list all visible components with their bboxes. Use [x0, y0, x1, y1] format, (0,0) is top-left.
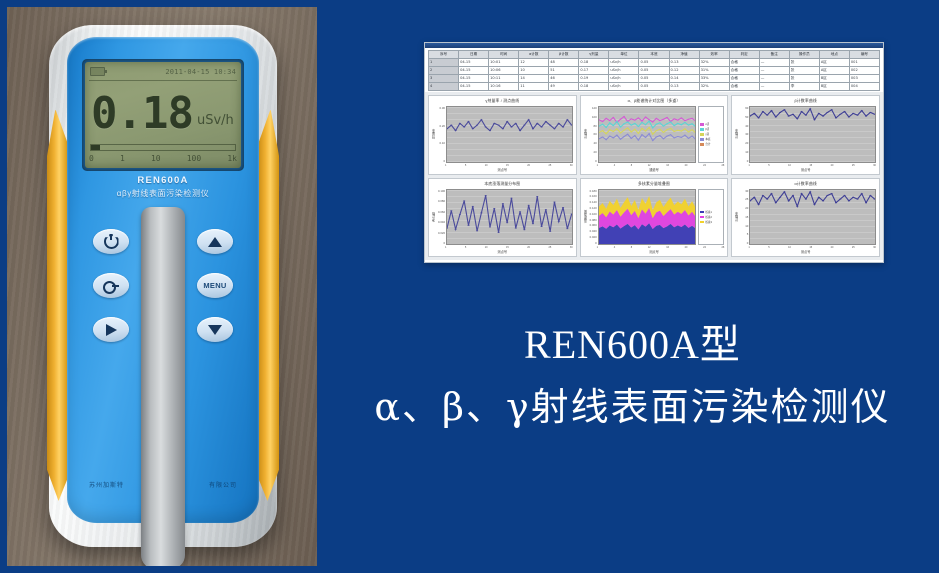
chart-card[interactable]: β计数率曲线计数率6050403020100151015202530测点号	[731, 95, 880, 175]
table-cell: 002	[849, 67, 879, 75]
search-button[interactable]	[93, 273, 129, 298]
chart-x-axis-label: 测点号	[581, 249, 728, 256]
chart-data-point	[626, 134, 628, 135]
chart-title: α计数率曲线	[732, 179, 879, 187]
table-cell: 51	[549, 67, 579, 75]
table-cell: 001	[849, 59, 879, 67]
chart-data-point	[684, 120, 686, 121]
chart-data-point	[809, 191, 811, 192]
chart-data-point	[637, 133, 639, 134]
chart-data-point	[687, 119, 689, 120]
chart-data-point	[644, 116, 646, 117]
table-row[interactable]: 204-1510:0610510.17uSv/h0.050.1231%合格—张A…	[429, 67, 880, 75]
chart-data-point	[662, 138, 664, 139]
chart-data-point	[865, 116, 867, 117]
chart-data-point	[601, 130, 603, 131]
chart-legend-label: 合计	[705, 142, 710, 146]
chart-data-point	[532, 223, 534, 224]
chart-data-point	[655, 124, 657, 125]
chart-data-point	[659, 135, 661, 136]
table-cell: 0.14	[669, 75, 699, 83]
chart-data-point	[648, 119, 650, 120]
chart-data-point	[616, 121, 618, 122]
chart-data-point	[566, 119, 568, 120]
chart-data-point	[784, 109, 786, 110]
chart-legend-swatch	[700, 123, 704, 126]
table-cell: 0.18	[579, 83, 609, 91]
chart-legend: 核素1核素2核素3	[698, 189, 724, 246]
chart-data-point	[687, 125, 689, 126]
chart-data-point	[605, 139, 607, 140]
chart-data-point	[476, 125, 478, 126]
chart-data-point	[623, 123, 625, 124]
chart-y-tick: 30	[739, 189, 748, 193]
chart-y-axis-label: 活度浓度	[583, 210, 588, 223]
table-column-header: 净值	[669, 51, 699, 59]
chart-legend-label: γ道	[705, 132, 709, 136]
chart-data-point	[454, 228, 456, 229]
chart-data-point	[805, 198, 807, 199]
table-cell: B区	[819, 83, 849, 91]
table-cell: 0.05	[639, 59, 669, 67]
chart-data-point	[771, 193, 773, 194]
chart-data-point	[634, 129, 636, 130]
chart-data-point	[485, 126, 487, 127]
chart-y-ticks: 6050403020100	[739, 106, 749, 163]
chart-data-point	[822, 116, 824, 117]
chart-y-tick: 0	[588, 241, 597, 245]
chart-title: α、β能谱统计对比图（多道）	[581, 96, 728, 104]
chart-data-point	[831, 109, 833, 110]
chart-line-series	[447, 195, 572, 232]
chart-data-point	[822, 200, 824, 201]
chart-data-point	[796, 205, 798, 206]
chart-y-axis-label: 计数率	[734, 212, 739, 222]
chart-data-point	[553, 201, 555, 202]
charts-grid: γ剂量率 / 测点曲线剂量率0.300.200.100151015202530测…	[425, 92, 883, 260]
table-cell: 32%	[699, 59, 729, 67]
chart-data-point	[467, 121, 469, 122]
chart-data-point	[553, 128, 555, 129]
chart-legend-item: α道	[700, 122, 722, 126]
chart-data-point	[788, 116, 790, 117]
chart-data-point	[463, 200, 465, 201]
table-cell: 张	[789, 59, 819, 67]
chart-data-point	[687, 138, 689, 139]
chart-line-series	[750, 109, 875, 120]
grip-left	[47, 109, 68, 501]
chart-y-tick: 40	[588, 141, 597, 145]
chart-data-point	[805, 115, 807, 116]
chart-data-point	[666, 123, 668, 124]
chart-data-point	[601, 124, 603, 125]
chart-y-axis-label: 计数率	[734, 129, 739, 139]
chart-plot-area	[749, 106, 876, 163]
chart-data-point	[605, 133, 607, 134]
company-left: 苏州加斯特	[89, 480, 124, 489]
table-cell: 04-15	[459, 83, 489, 91]
chart-data-point	[766, 115, 768, 116]
chart-data-point	[523, 125, 525, 126]
table-row[interactable]: 404-1510:1611490.18uSv/h0.050.1332%合格—李B…	[429, 83, 880, 91]
chart-plot-area	[446, 189, 573, 246]
lcd-scale-ticks: 0 1 10 100 1k	[89, 154, 237, 166]
chart-y-ticks: 302520151050	[739, 189, 749, 246]
chart-y-tick: 0	[739, 159, 748, 163]
chart-data-point	[540, 126, 542, 127]
chart-legend-swatch	[700, 221, 704, 224]
table-column-header: 判定	[729, 51, 759, 59]
lcd-bezel: 2011-04-15 10:34 0.18 uSv/h 0 1 10 100	[82, 59, 244, 171]
table-column-header: 时间	[489, 51, 519, 59]
chart-data-point	[666, 136, 668, 137]
power-icon	[104, 234, 119, 249]
table-cell: 0.05	[639, 67, 669, 75]
power-button[interactable]	[93, 229, 129, 254]
chart-data-point	[852, 196, 854, 197]
chart-data-point	[623, 130, 625, 131]
chart-data-point	[566, 228, 568, 229]
chart-y-tick: 0.140	[588, 200, 597, 204]
chart-y-tick: 60	[588, 132, 597, 136]
chart-y-tick: 10	[739, 150, 748, 154]
chart-data-point	[616, 128, 618, 129]
chart-y-tick: 40	[739, 124, 748, 128]
table-row[interactable]: 304-1510:1114460.19uSv/h0.050.1433%合格—张B…	[429, 75, 880, 83]
table-cell: 003	[849, 75, 879, 83]
table-cell: 0.17	[579, 67, 609, 75]
chart-title: β计数率曲线	[732, 96, 879, 104]
chart-y-tick: 0.060	[436, 210, 445, 214]
table-cell: 48	[549, 59, 579, 67]
chart-data-point	[691, 129, 693, 130]
table-cell: 10:16	[489, 83, 519, 91]
chart-y-tick: 20	[588, 150, 597, 154]
chart-data-point	[754, 113, 756, 114]
chart-data-point	[510, 126, 512, 127]
table-cell: 11	[519, 83, 549, 91]
triangle-right-icon	[106, 324, 117, 336]
table-row[interactable]: 104-1510:0112480.18uSv/h0.050.1332%合格—张A…	[429, 59, 880, 67]
table-cell: 合格	[729, 83, 759, 91]
data-table: 序号日期时间α计数β计数γ剂量单位本底净值效率判定备注操作员地点编号 104-1…	[428, 50, 880, 91]
chart-data-point	[779, 112, 781, 113]
chart-legend-swatch	[700, 211, 704, 214]
table-cell: 04-15	[459, 67, 489, 75]
chart-y-tick: 0.080	[588, 218, 597, 222]
chart-data-point	[809, 108, 811, 109]
chart-data-point	[637, 140, 639, 141]
table-cell: A区	[819, 67, 849, 75]
chart-y-tick: 50	[739, 115, 748, 119]
chart-y-tick: 25	[739, 197, 748, 201]
chart-card[interactable]: 本底涨落测量分布图净计数0.1000.0800.0600.0400.020015…	[428, 178, 577, 258]
chart-data-point	[680, 137, 682, 138]
menu-button[interactable]: MENU	[197, 273, 233, 298]
slide-root: 2011-04-15 10:34 0.18 uSv/h 0 1 10 100	[0, 0, 939, 573]
chart-data-point	[612, 137, 614, 138]
chart-data-point	[673, 137, 675, 138]
table-cell: B区	[819, 75, 849, 83]
chart-data-point	[609, 129, 611, 130]
chart-data-point	[796, 118, 798, 119]
chart-y-tick: 30	[739, 132, 748, 136]
chart-data-point	[459, 214, 461, 215]
table-cell: 14	[519, 75, 549, 83]
chart-title: 多核素分量堆叠图	[581, 179, 728, 187]
chart-data-point	[684, 135, 686, 136]
table-header-row: 序号日期时间α计数β计数γ剂量单位本底净值效率判定备注操作员地点编号	[429, 51, 880, 59]
chart-y-tick: 60	[739, 106, 748, 110]
chart-data-point	[626, 127, 628, 128]
chart-data-point	[771, 110, 773, 111]
chart-data-point	[691, 118, 693, 119]
table-cell: 合格	[729, 75, 759, 83]
chart-data-point	[532, 128, 534, 129]
chart-data-point	[545, 121, 547, 122]
chart-data-point	[839, 198, 841, 199]
device-model-desc: αβγ射线表面污染检测仪	[67, 188, 259, 199]
chart-data-point	[609, 122, 611, 123]
chart-data-point	[528, 119, 530, 120]
chart-y-tick: 0.10	[436, 141, 445, 145]
chart-data-point	[655, 118, 657, 119]
chart-card[interactable]: α计数率曲线计数率302520151050151015202530测点号	[731, 178, 880, 258]
chart-data-point	[673, 118, 675, 119]
table-column-header: 单位	[609, 51, 639, 59]
chart-data-point	[818, 196, 820, 197]
chart-data-point	[662, 119, 664, 120]
lcd-datetime: 2011-04-15 10:34	[165, 68, 236, 76]
chart-y-tick: 0.100	[588, 212, 597, 216]
table-cell: —	[759, 67, 789, 75]
chart-y-ticks: 0.1000.0800.0600.0400.0200	[436, 189, 446, 246]
chart-legend-label: 核素2	[705, 215, 712, 219]
up-button[interactable]	[197, 229, 233, 254]
table-cell: 张	[789, 75, 819, 83]
chart-y-tick: 5	[739, 232, 748, 236]
chart-data-point	[609, 120, 611, 121]
chart-data-point	[659, 122, 661, 123]
table-cell: 0.18	[579, 59, 609, 67]
table-cell: 4	[429, 83, 459, 91]
lcd-divider	[89, 80, 237, 81]
chart-data-point	[865, 202, 867, 203]
chart-data-point	[612, 117, 614, 118]
chart-data-point	[861, 110, 863, 111]
chart-data-point	[515, 227, 517, 228]
chart-data-point	[801, 111, 803, 112]
chart-data-point	[450, 125, 452, 126]
table-column-header: 本底	[639, 51, 669, 59]
chart-data-point	[519, 211, 521, 212]
chart-data-point	[669, 128, 671, 129]
chart-data-point	[814, 204, 816, 205]
play-button[interactable]	[93, 317, 129, 342]
table-column-header: β计数	[549, 51, 579, 59]
chart-plot-area	[598, 106, 697, 163]
chart-y-ticks: 120100806040200	[588, 106, 598, 163]
chart-data-point	[655, 136, 657, 137]
down-button[interactable]	[197, 317, 233, 342]
chart-y-tick: 0.040	[436, 220, 445, 224]
product-photo: 2011-04-15 10:34 0.18 uSv/h 0 1 10 100	[7, 7, 317, 566]
table-column-header: 编号	[849, 51, 879, 59]
table-cell: 1	[429, 59, 459, 67]
table-cell: 0.12	[669, 67, 699, 75]
chart-y-tick: 0.020	[436, 231, 445, 235]
chart-y-tick: 0.100	[436, 189, 445, 193]
chart-y-tick: 20	[739, 206, 748, 210]
lcd-reading: 0.18 uSv/h	[91, 86, 235, 142]
chart-data-point	[571, 213, 572, 214]
lcd-screen: 2011-04-15 10:34 0.18 uSv/h 0 1 10 100	[85, 62, 241, 168]
chart-x-axis-label: 测点号	[429, 249, 576, 256]
chart-data-point	[623, 116, 625, 117]
chart-y-tick: 0.020	[588, 235, 597, 239]
chart-data-point	[835, 117, 837, 118]
lcd-tick: 10	[151, 154, 161, 166]
battery-icon	[90, 67, 105, 76]
chart-data-point	[519, 130, 521, 131]
chart-data-point	[562, 126, 564, 127]
table-cell: 004	[849, 83, 879, 91]
key-icon	[103, 281, 119, 290]
table-cell: 10	[519, 67, 549, 75]
chart-data-point	[673, 125, 675, 126]
chart-data-point	[510, 197, 512, 198]
chart-data-point	[669, 121, 671, 122]
chart-legend-label: β道	[705, 127, 709, 131]
chart-x-axis-label: 测点号	[732, 167, 879, 174]
table-cell: 3	[429, 75, 459, 83]
chart-y-tick: 10	[739, 224, 748, 228]
chart-data-point	[467, 224, 469, 225]
chart-title: 本底涨落测量分布图	[429, 179, 576, 187]
table-column-header: 效率	[699, 51, 729, 59]
chart-card[interactable]: 多核素分量堆叠图活度浓度0.1800.1600.1400.1200.1000.0…	[580, 178, 729, 258]
chart-data-point	[684, 122, 686, 123]
headline-block: REN600A型 α、β、γ射线表面污染检测仪	[330, 318, 935, 438]
chart-data-point	[677, 120, 679, 121]
chart-data-point	[536, 123, 538, 124]
chart-data-point	[857, 198, 859, 199]
chart-legend-item: γ道	[700, 132, 722, 136]
chart-data-point	[616, 135, 618, 136]
chart-data-point	[485, 194, 487, 195]
chart-data-point	[831, 193, 833, 194]
chart-data-point	[601, 121, 603, 122]
chart-data-point	[630, 131, 632, 132]
chart-data-point	[651, 127, 653, 128]
chart-line-series	[447, 120, 572, 131]
chart-data-point	[784, 191, 786, 192]
chart-plot-area	[446, 106, 573, 163]
chart-data-point	[848, 116, 850, 117]
table-cell: 10:01	[489, 59, 519, 67]
chart-data-point	[758, 117, 760, 118]
table-cell: 0.05	[639, 83, 669, 91]
chart-data-point	[630, 138, 632, 139]
table-cell: uSv/h	[609, 59, 639, 67]
menu-label: MENU	[203, 281, 226, 290]
chart-card[interactable]: γ剂量率 / 测点曲线剂量率0.300.200.100151015202530测…	[428, 95, 577, 175]
chart-data-point	[515, 123, 517, 124]
chart-data-point	[677, 130, 679, 131]
chart-data-point	[536, 196, 538, 197]
table-cell: A区	[819, 59, 849, 67]
chart-data-point	[655, 130, 657, 131]
chart-data-point	[609, 136, 611, 137]
chart-line-series	[750, 191, 875, 206]
chart-data-point	[758, 204, 760, 205]
table-cell: 0.13	[669, 83, 699, 91]
chart-data-point	[827, 112, 829, 113]
table-cell: 李	[789, 83, 819, 91]
chart-legend-item: 本底	[700, 137, 722, 141]
chart-data-point	[641, 128, 643, 129]
lcd-scale-bar	[90, 144, 236, 151]
lcd-tick: 1	[120, 154, 125, 166]
chart-legend-label: α道	[705, 122, 709, 126]
chart-legend: α道β道γ道本底合计	[698, 106, 724, 163]
chart-data-point	[818, 113, 820, 114]
chart-data-point	[619, 126, 621, 127]
table-cell: 33%	[699, 75, 729, 83]
chart-data-point	[502, 128, 504, 129]
chart-data-point	[562, 206, 564, 207]
chart-data-point	[775, 116, 777, 117]
chart-data-point	[648, 121, 650, 122]
chart-data-point	[506, 121, 508, 122]
chart-data-point	[447, 227, 448, 228]
table-cell: —	[759, 59, 789, 67]
chart-card[interactable]: α、β能谱统计对比图（多道）计数率120100806040200α道β道γ道本底…	[580, 95, 729, 175]
chart-data-point	[612, 125, 614, 126]
table-cell: 12	[519, 59, 549, 67]
table-cell: uSv/h	[609, 75, 639, 83]
chart-data-point	[844, 111, 846, 112]
chart-data-point	[549, 230, 551, 231]
table-cell: —	[759, 83, 789, 91]
chart-data-point	[641, 122, 643, 123]
table-cell: 10:06	[489, 67, 519, 75]
chart-y-tick: 0.30	[436, 106, 445, 110]
chart-y-axis-label: 剂量率	[431, 129, 436, 139]
chart-data-point	[677, 136, 679, 137]
table-cell: —	[759, 75, 789, 83]
table-cell: uSv/h	[609, 83, 639, 91]
chart-data-point	[844, 194, 846, 195]
chart-y-tick: 0.060	[588, 223, 597, 227]
chart-y-tick: 0.180	[588, 189, 597, 193]
lcd-value: 0.18	[91, 92, 193, 136]
software-screenshot: 序号日期时间α计数β计数γ剂量单位本底净值效率判定备注操作员地点编号 104-1…	[424, 42, 884, 263]
chart-legend-item: 合计	[700, 142, 722, 146]
chart-data-point	[545, 209, 547, 210]
chart-data-point	[626, 121, 628, 122]
chart-data-point	[852, 113, 854, 114]
chart-data-point	[792, 114, 794, 115]
lcd-unit: uSv/h	[197, 113, 234, 128]
chart-title: γ剂量率 / 测点曲线	[429, 96, 576, 104]
chart-data-point	[687, 131, 689, 132]
chart-data-point	[540, 226, 542, 227]
chart-data-point	[489, 130, 491, 131]
chart-legend-swatch	[700, 143, 704, 146]
chart-data-point	[630, 118, 632, 119]
chart-data-point	[779, 196, 781, 197]
